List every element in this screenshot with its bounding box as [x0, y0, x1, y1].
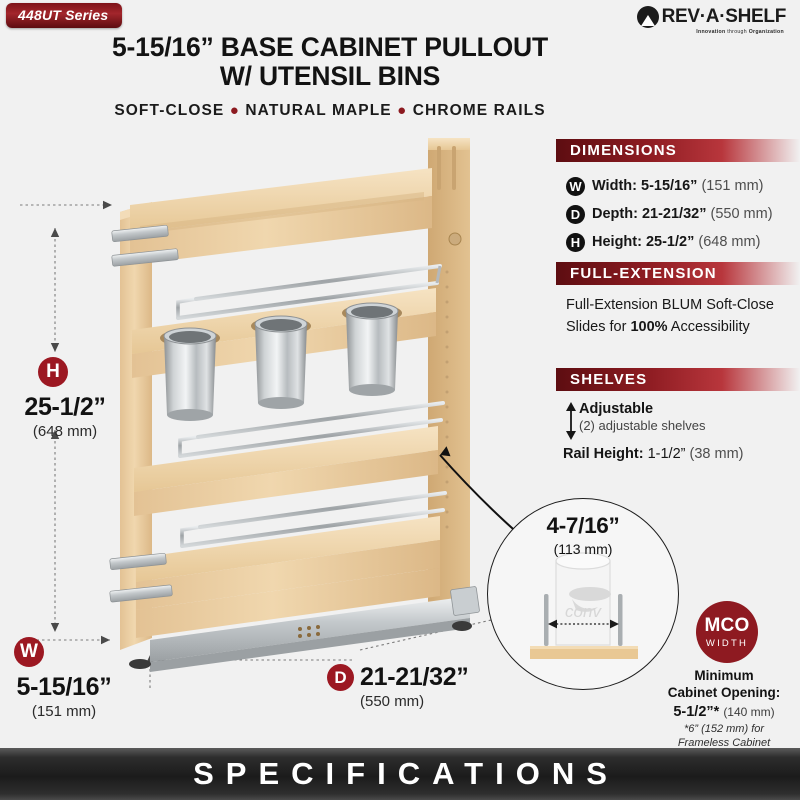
depth-value: 21-21/32”: [642, 206, 707, 222]
dimension-row-depth: D Depth: 21-21/32” (550 mm): [566, 200, 800, 228]
mco-note-line-1: *6” (152 mm) for: [648, 723, 800, 737]
width-callout: 5-15/16” (151 mm): [4, 673, 124, 720]
depth-callout-metric: (550 mm): [360, 693, 469, 710]
adjustable-title: Adjustable: [579, 400, 705, 418]
dimension-row-height: H Height: 25-1/2” (648 mm): [566, 228, 800, 256]
brand-tagline: Innovation through Organization: [637, 29, 784, 35]
height-metric: (648 mm): [698, 234, 760, 250]
feature-1: SOFT-CLOSE: [114, 102, 224, 119]
mco-metric: (140 mm): [723, 705, 774, 719]
mco-title-line-1: Minimum: [648, 668, 800, 685]
up-down-arrow-icon: [563, 401, 579, 441]
shelves-description: Adjustable (2) adjustable shelves Rail H…: [563, 400, 800, 462]
mco-width-badge: MCO WIDTH: [696, 601, 758, 663]
depth-label: Depth:: [592, 206, 638, 222]
depth-callout-badge: D: [327, 664, 354, 691]
bin-brand-text: conv: [565, 602, 602, 621]
mco-title-line-2: Cabinet Opening:: [648, 685, 800, 702]
mco-description: Minimum Cabinet Opening: 5-1/2”* (140 mm…: [648, 668, 800, 750]
brand-name: REV·A·SHELF: [662, 6, 786, 28]
title-line-2: W/ UTENSIL BINS: [70, 62, 590, 91]
height-value: 25-1/2”: [646, 234, 694, 250]
extension-text-bold: 100%: [630, 319, 667, 335]
depth-badge-icon: D: [566, 205, 585, 224]
detail-magnifier-circle: conv 4-7/16” (113 mm): [487, 498, 679, 690]
specifications-banner: SPECIFICATIONS: [0, 748, 800, 800]
height-badge-icon: H: [566, 233, 585, 252]
specification-sheet: 448UT Series REV·A·SHELF Innovation thro…: [0, 0, 800, 800]
mco-value: 5-1/2”*: [673, 704, 719, 720]
height-callout-value: 25-1/2”: [10, 393, 120, 422]
page-title: 5-15/16” BASE CABINET PULLOUT W/ UTENSIL…: [70, 33, 590, 90]
bullet-separator-icon: ●: [230, 102, 240, 119]
depth-callout-value: 21-21/32”: [360, 663, 469, 692]
full-extension-description: Full-Extension BLUM Soft-Close Slides fo…: [566, 294, 791, 338]
height-label: Height:: [592, 234, 642, 250]
width-callout-metric: (151 mm): [4, 703, 124, 720]
width-value: 5-15/16”: [641, 178, 697, 194]
feature-2: NATURAL MAPLE: [245, 102, 391, 119]
feature-3: CHROME RAILS: [413, 102, 546, 119]
mco-badge-sub: WIDTH: [706, 638, 748, 649]
detail-dimension-label: 4-7/16” (113 mm): [488, 513, 678, 557]
mco-badge-main: MCO: [705, 615, 750, 637]
height-callout-badge: H: [38, 357, 68, 387]
brand-logo: REV·A·SHELF Innovation through Organizat…: [637, 6, 786, 35]
width-callout-badge: W: [14, 637, 44, 667]
extension-text-post: Accessibility: [668, 319, 750, 335]
title-line-1: 5-15/16” BASE CABINET PULLOUT: [70, 33, 590, 62]
detail-dimension-value: 4-7/16”: [488, 513, 678, 539]
height-callout: 25-1/2” (648 mm): [10, 393, 120, 440]
height-callout-metric: (648 mm): [10, 423, 120, 440]
series-badge: 448UT Series: [6, 3, 122, 28]
width-metric: (151 mm): [701, 178, 763, 194]
width-label: Width:: [592, 178, 637, 194]
bullet-separator-icon: ●: [397, 102, 407, 119]
width-badge-icon: W: [566, 177, 585, 196]
depth-callout: 21-21/32” (550 mm): [360, 663, 469, 710]
rail-height-row: Rail Height: 1-1/2” (38 mm): [563, 446, 800, 462]
dimension-row-width: W Width: 5-15/16” (151 mm): [566, 172, 800, 200]
feature-subtitle: SOFT-CLOSE ● NATURAL MAPLE ● CHROME RAIL…: [70, 102, 590, 120]
panel-heading-full-extension: FULL-EXTENSION: [556, 262, 800, 285]
detail-dimension-metric: (113 mm): [488, 541, 678, 557]
adjustable-subtitle: (2) adjustable shelves: [579, 418, 705, 435]
panel-heading-dimensions: DIMENSIONS: [556, 139, 800, 162]
panel-heading-shelves: SHELVES: [556, 368, 800, 391]
rail-height-label: Rail Height:: [563, 446, 644, 462]
rail-height-metric: (38 mm): [690, 446, 744, 462]
dimensions-list: W Width: 5-15/16” (151 mm) D Depth: 21-2…: [566, 172, 800, 256]
arrow-up-in-circle-icon: [637, 6, 659, 28]
width-callout-value: 5-15/16”: [4, 673, 124, 702]
depth-metric: (550 mm): [710, 206, 772, 222]
rail-height-value: 1-1/2”: [648, 446, 686, 462]
